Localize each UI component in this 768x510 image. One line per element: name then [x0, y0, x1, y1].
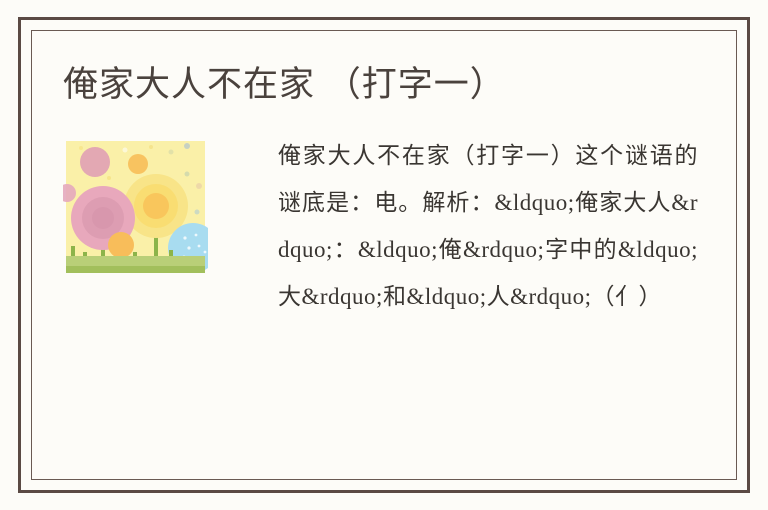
flower-garden-svg	[63, 138, 208, 283]
page-title: 俺家大人不在家 （打字一）	[63, 64, 506, 106]
grass-ground	[66, 266, 205, 273]
page-root: 俺家大人不在家 （打字一）	[0, 0, 768, 510]
flower-garden-illustration	[63, 138, 208, 283]
article-content: 俺家大人不在家 （打字一）	[21, 20, 747, 490]
decorative-outer-frame: 俺家大人不在家 （打字一）	[18, 17, 750, 493]
riddle-explanation-text: 俺家大人不在家（打字一）这个谜语的谜底是：电。解析：&ldquo;俺家大人&rd…	[278, 132, 698, 320]
